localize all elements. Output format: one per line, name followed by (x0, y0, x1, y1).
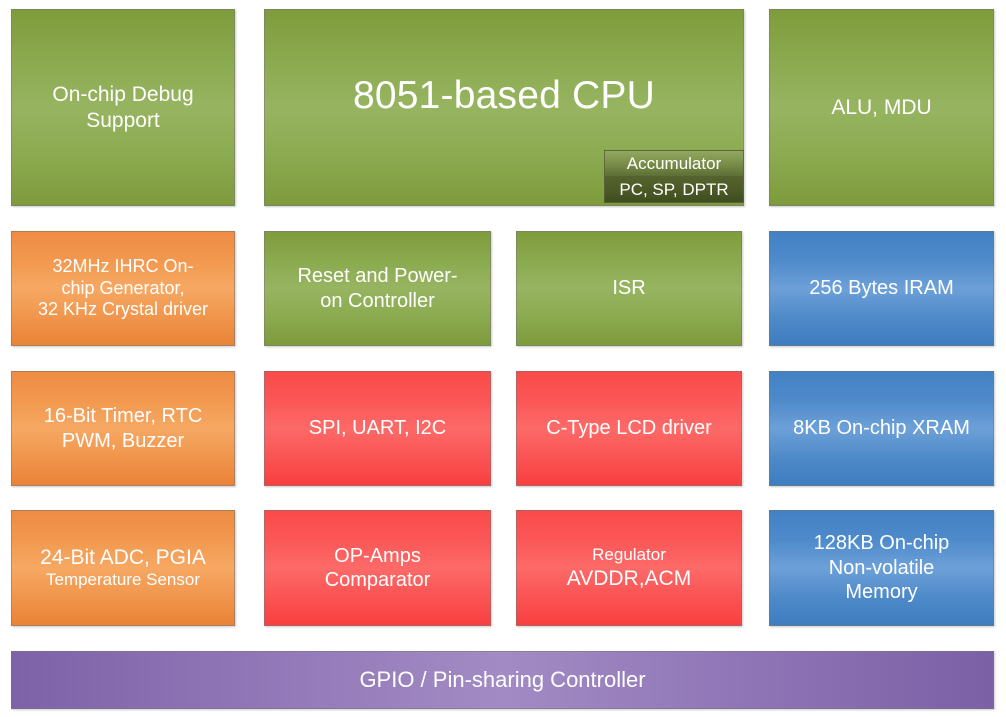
block-clock-generator: 32MHz IHRC On- chip Generator, 32 KHz Cr… (11, 231, 235, 346)
block-on-chip-debug-support: On-chip Debug Support (11, 9, 235, 206)
adc-line-1: 24-Bit ADC, PGIA (40, 545, 206, 571)
block-gpio-pin-sharing-controller: GPIO / Pin-sharing Controller (11, 651, 994, 709)
register-pc-sp-dptr: PC, SP, DPTR (604, 176, 744, 203)
adc-line-2: Temperature Sensor (46, 570, 200, 591)
register-accumulator: Accumulator (604, 150, 744, 177)
block-alu-mdu: ALU, MDU (769, 9, 994, 206)
block-128kb-non-volatile-memory: 128KB On-chip Non-volatile Memory (769, 510, 994, 626)
block-c-type-lcd-driver: C-Type LCD driver (516, 371, 742, 486)
block-256-bytes-iram: 256 Bytes IRAM (769, 231, 994, 346)
block-diagram: On-chip Debug Support 8051-based CPU Acc… (0, 0, 1006, 717)
cpu-register-inset: Accumulator PC, SP, DPTR (604, 151, 744, 203)
block-adc-pgia-temperature-sensor: 24-Bit ADC, PGIA Temperature Sensor (11, 510, 235, 626)
block-8kb-on-chip-xram: 8KB On-chip XRAM (769, 371, 994, 486)
block-regulator-avddr-acm: Regulator AVDDR,ACM (516, 510, 742, 626)
regulator-line-2: AVDDR,ACM (567, 566, 691, 592)
block-reset-power-on-controller: Reset and Power- on Controller (264, 231, 491, 346)
regulator-line-1: Regulator (592, 545, 666, 566)
block-isr: ISR (516, 231, 742, 346)
block-timer-rtc-pwm-buzzer: 16-Bit Timer, RTC PWM, Buzzer (11, 371, 235, 486)
block-spi-uart-i2c: SPI, UART, I2C (264, 371, 491, 486)
block-op-amps-comparator: OP-Amps Comparator (264, 510, 491, 626)
